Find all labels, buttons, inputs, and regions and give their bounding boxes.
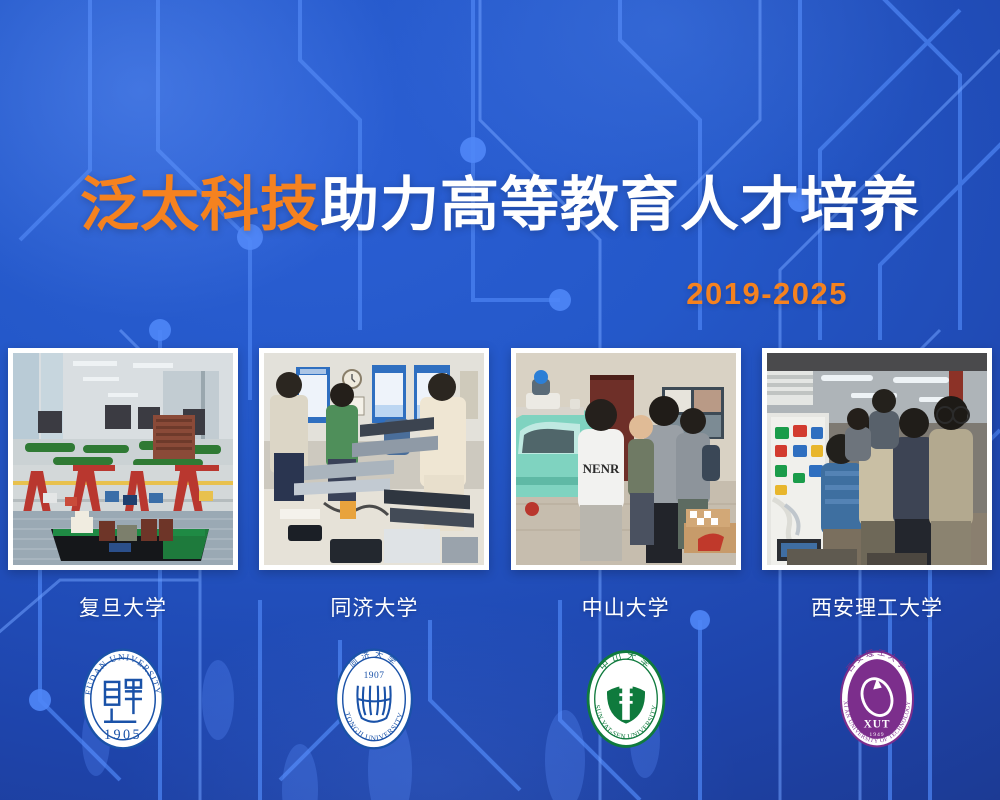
subtitle-year-range: 2019-2025 — [686, 276, 848, 312]
photo-frame — [259, 348, 489, 570]
svg-text:1949: 1949 — [869, 732, 884, 738]
university-name: 西安理工大学 — [811, 592, 943, 622]
photo-industrial-automation-visit — [767, 353, 987, 565]
svg-text:1907: 1907 — [364, 671, 385, 681]
svg-text:1905: 1905 — [104, 727, 142, 743]
university-name: 中山大学 — [582, 592, 670, 622]
photo-frame — [8, 348, 238, 570]
title-brand-text: 泛太科技 — [80, 172, 320, 238]
university-card: 西安理工大学 西安理工大学 XI AN UNIVERSITY OF TECHNO… — [762, 348, 992, 754]
xian-university-of-technology-logo: 西安理工大学 XI AN UNIVERSITY OF TECHNOLOGY XU… — [829, 644, 925, 754]
university-card: 同济大学 同济大学 TONGJI UNIVERSITY 1907 — [259, 348, 489, 754]
university-card: NENR — [511, 348, 741, 754]
photo-city-port-model — [13, 353, 233, 565]
university-name: 同济大学 — [330, 592, 418, 622]
university-card-list: 复旦大学 FUDAN UNIVERSITY — [0, 348, 1000, 754]
title-block: 泛太科技助力高等教育人才培养 — [0, 172, 1000, 238]
university-name: 复旦大学 — [79, 592, 167, 622]
svg-text:XUT: XUT — [864, 718, 891, 730]
photo-frame — [762, 348, 992, 570]
fudan-university-logo: FUDAN UNIVERSITY 1905 — [75, 644, 171, 754]
photo-autonomous-vehicle-students: NENR — [516, 353, 736, 565]
tongji-university-logo: 同济大学 TONGJI UNIVERSITY 1907 — [326, 644, 422, 754]
university-card: 复旦大学 FUDAN UNIVERSITY — [8, 348, 238, 754]
page-title: 泛太科技助力高等教育人才培养 — [0, 172, 1000, 238]
title-remainder-text: 助力高等教育人才培养 — [320, 172, 920, 238]
photo-lab-equipment-students — [264, 353, 484, 565]
poster-canvas: 泛太科技助力高等教育人才培养 2019-2025 — [0, 0, 1000, 800]
photo-frame: NENR — [511, 348, 741, 570]
svg-text:NENR: NENR — [582, 461, 619, 476]
sun-yat-sen-university-logo: 中山大学 SUN YAT-SEN UNIVERSITY — [578, 644, 674, 754]
